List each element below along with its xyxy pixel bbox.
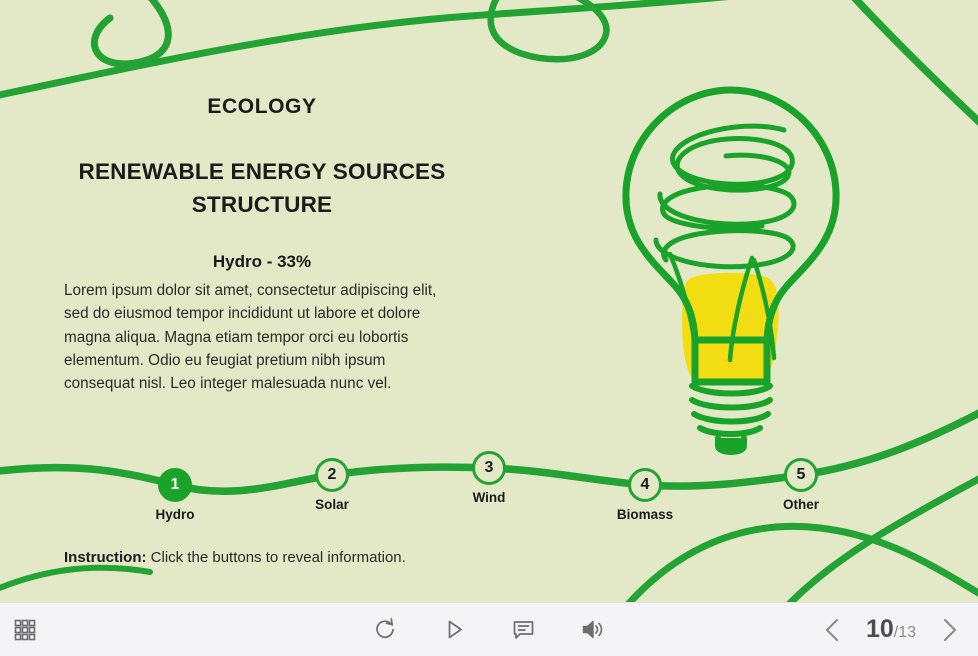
step-label-biomass: Biomass [617, 507, 673, 522]
step-button-hydro[interactable]: 1 [158, 468, 192, 502]
step-label-wind: Wind [473, 490, 506, 505]
step-button-wind[interactable]: 3 [472, 451, 506, 485]
next-slide-icon[interactable] [938, 617, 960, 643]
replay-icon[interactable] [373, 617, 398, 642]
step-button-biomass[interactable]: 4 [628, 468, 662, 502]
section-body-text: Lorem ipsum dolor sit amet, consectetur … [64, 279, 456, 395]
page-eyebrow: ECOLOGY [62, 95, 462, 119]
instruction-label: Instruction: [64, 549, 147, 566]
step-button-other[interactable]: 5 [784, 458, 818, 492]
total-pages: /13 [894, 624, 916, 642]
previous-slide-icon[interactable] [822, 617, 844, 643]
slides-grid-icon[interactable] [14, 619, 36, 641]
step-button-solar[interactable]: 2 [315, 458, 349, 492]
step-label-other: Other [783, 497, 819, 512]
current-page: 10 [866, 615, 894, 644]
page-title: RENEWABLE ENERGY SOURCES STRUCTURE [62, 155, 462, 221]
instruction-text: Click the buttons to reveal information. [147, 549, 406, 566]
play-icon[interactable] [442, 617, 467, 642]
step-label-hydro: Hydro [155, 507, 194, 522]
notes-icon[interactable] [511, 617, 536, 642]
slide-player: ECOLOGY RENEWABLE ENERGY SOURCES STRUCTU… [0, 0, 978, 656]
section-subheading: Hydro - 33% [62, 252, 462, 272]
page-indicator: 10 /13 [866, 615, 916, 644]
step-label-solar: Solar [315, 497, 349, 512]
instruction-line: Instruction: Click the buttons to reveal… [64, 549, 406, 566]
player-toolbar: 10 /13 [0, 602, 978, 656]
volume-icon[interactable] [580, 617, 605, 642]
